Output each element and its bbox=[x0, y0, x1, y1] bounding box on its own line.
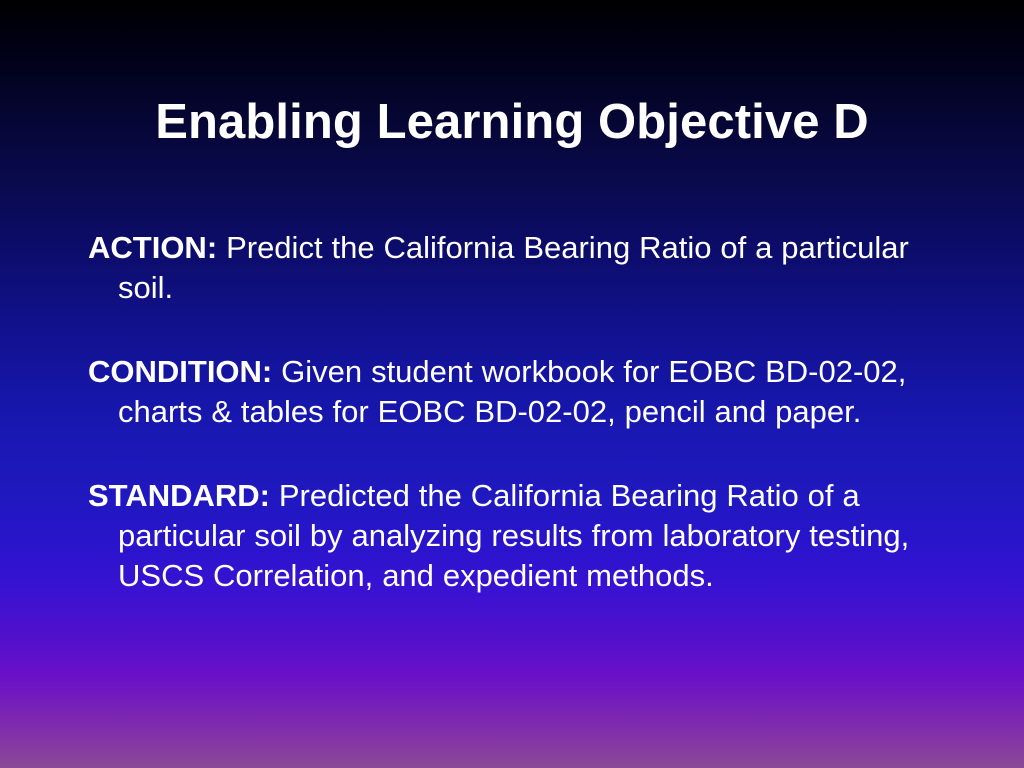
objective-paragraph-action: ACTION: Predict the California Bearing R… bbox=[88, 228, 964, 308]
presentation-slide: Enabling Learning Objective D ACTION: Pr… bbox=[0, 0, 1024, 768]
slide-body-container: ACTION: Predict the California Bearing R… bbox=[88, 228, 964, 596]
slide-title: Enabling Learning Objective D bbox=[64, 96, 960, 150]
paragraph-body-action: Predict the California Bearing Ratio of … bbox=[118, 230, 909, 305]
objective-paragraph-condition: CONDITION: Given student workbook for EO… bbox=[88, 352, 964, 432]
paragraph-label-standard: STANDARD: bbox=[88, 478, 270, 513]
objective-paragraph-standard: STANDARD: Predicted the California Beari… bbox=[88, 476, 964, 596]
slide-title-container: Enabling Learning Objective D bbox=[64, 96, 960, 150]
paragraph-label-action: ACTION: bbox=[88, 230, 217, 265]
paragraph-label-condition: CONDITION: bbox=[88, 354, 272, 389]
